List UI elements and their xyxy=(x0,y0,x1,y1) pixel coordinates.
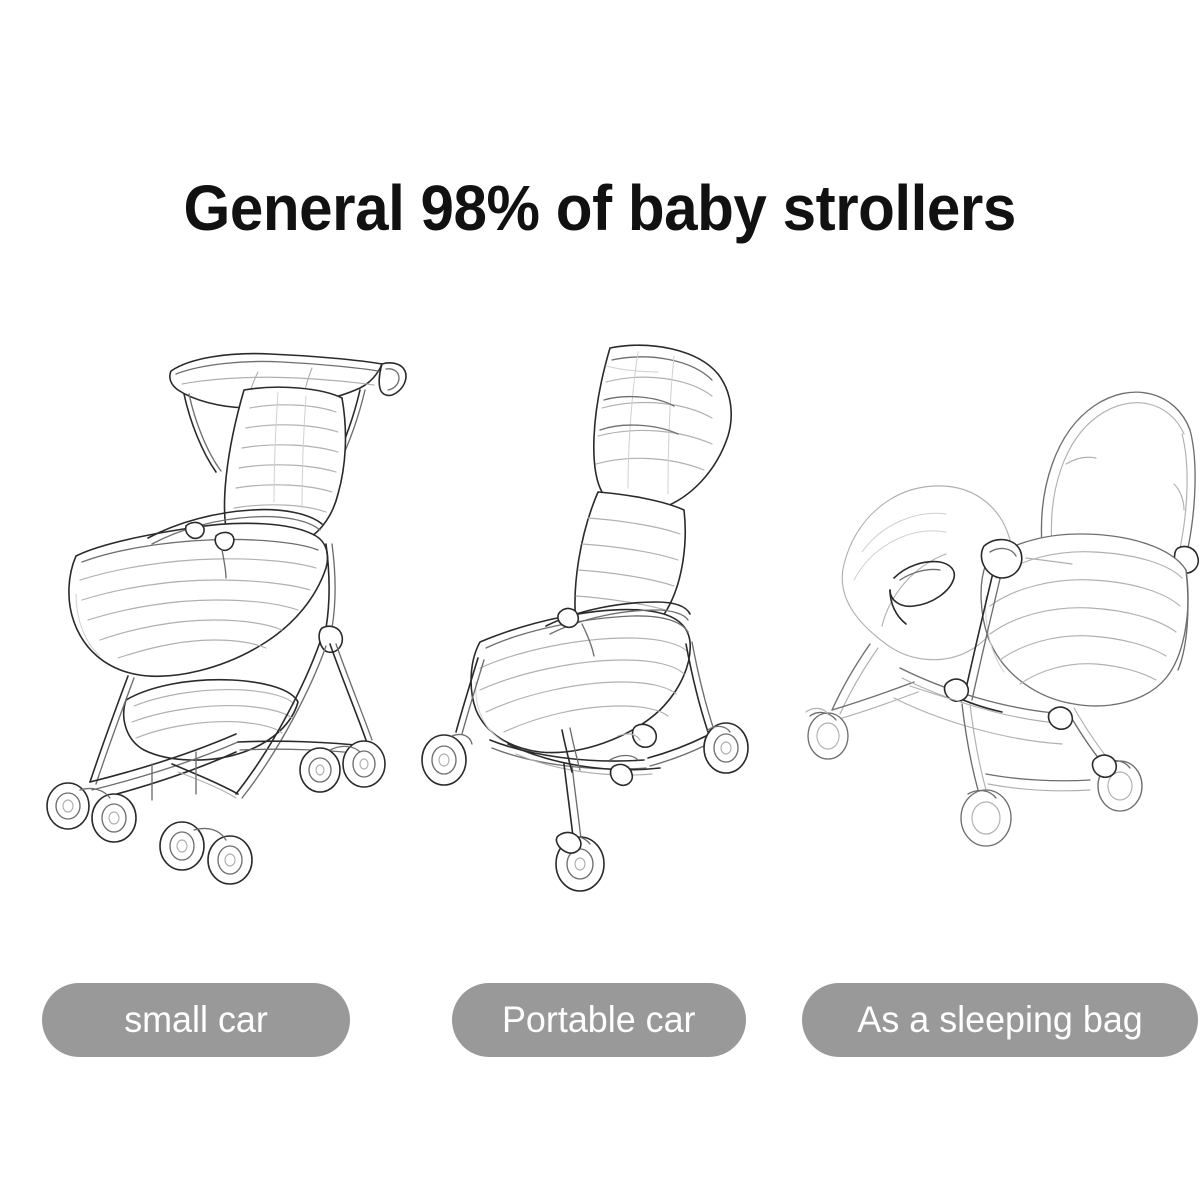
footmuff-body xyxy=(471,610,690,753)
label-pill-small-car-text: small car xyxy=(124,998,268,1042)
wheel-left xyxy=(806,708,848,759)
wheel-front-center xyxy=(160,822,252,884)
footmuff-body xyxy=(69,523,328,676)
feature-label-row: small car Portable car As a sleeping bag xyxy=(0,983,1200,1057)
wheel-right xyxy=(1093,755,1142,811)
label-pill-sleeping-bag[interactable]: As a sleeping bag xyxy=(802,983,1198,1057)
label-pill-portable-car-text: Portable car xyxy=(502,998,696,1042)
stroller-illustration-portable-car xyxy=(412,312,784,912)
wheel-front xyxy=(556,833,604,891)
product-feature-banner: General 98% of baby strollers xyxy=(0,0,1200,1200)
wheel-front xyxy=(961,790,1011,846)
wheel-left xyxy=(422,734,472,785)
storage-basket xyxy=(124,680,298,760)
wheel-right xyxy=(704,723,748,773)
page-title-container: General 98% of baby strollers xyxy=(0,128,1200,288)
label-pill-small-car[interactable]: small car xyxy=(42,983,350,1057)
stroller-sketch-2-svg xyxy=(412,312,784,912)
wheel-rear-right xyxy=(300,741,385,792)
stroller-illustration-sleeping-bag xyxy=(790,312,1200,912)
page-title: General 98% of baby strollers xyxy=(184,171,1016,245)
stroller-sketch-1-svg xyxy=(30,312,420,912)
label-pill-portable-car[interactable]: Portable car xyxy=(452,983,746,1057)
stroller-sketch-3-svg xyxy=(790,312,1200,912)
stroller-illustration-row xyxy=(0,312,1200,912)
stroller-illustration-small-car xyxy=(30,312,420,912)
label-pill-sleeping-bag-text: As a sleeping bag xyxy=(857,998,1142,1042)
